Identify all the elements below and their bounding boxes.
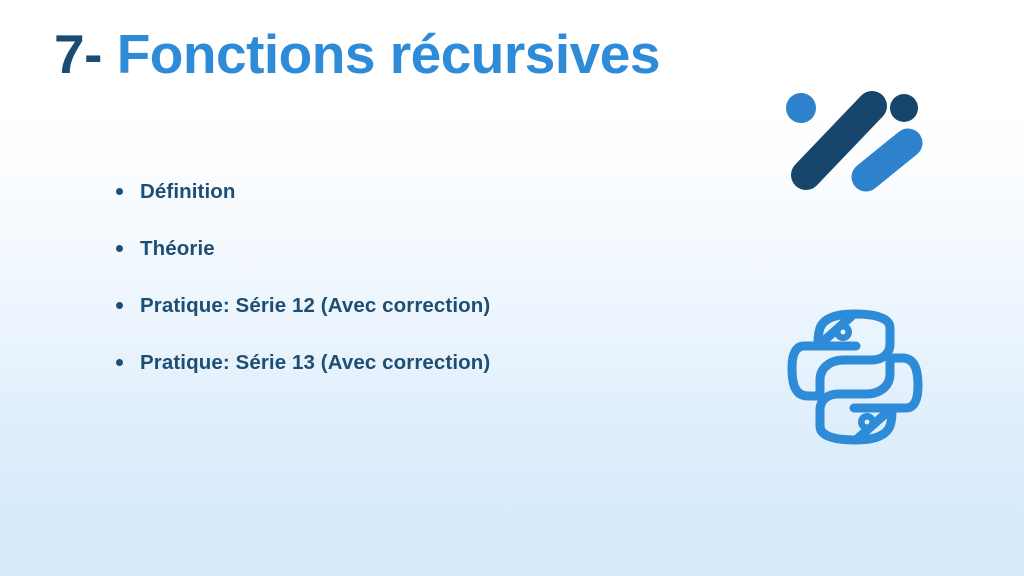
- list-item: Pratique: Série 13 (Avec correction): [116, 334, 736, 391]
- list-item-label: Pratique: Série 12 (Avec correction): [140, 294, 490, 318]
- page-title-text: Fonctions récursives: [117, 23, 660, 85]
- slide-canvas: 7- Fonctions récursives Définition Théor…: [0, 0, 1024, 576]
- bullet-dot-icon: [116, 245, 123, 252]
- page-title-number: 7-: [54, 23, 102, 85]
- page-title: 7- Fonctions récursives: [54, 19, 660, 89]
- bullet-dot-icon: [116, 302, 123, 309]
- list-item: Définition: [116, 163, 736, 220]
- logo-circle-light: [786, 93, 816, 123]
- list-item-label: Définition: [140, 180, 236, 204]
- list-item: Pratique: Série 12 (Avec correction): [116, 277, 736, 334]
- bullet-dot-icon: [116, 359, 123, 366]
- brand-percent-logo: [780, 86, 926, 196]
- bullet-dot-icon: [116, 188, 123, 195]
- agenda-list: Définition Théorie Pratique: Série 12 (A…: [116, 163, 736, 391]
- list-item: Théorie: [116, 220, 736, 277]
- logo-bar-light: [866, 143, 908, 177]
- list-item-label: Pratique: Série 13 (Avec correction): [140, 351, 490, 375]
- list-item-label: Théorie: [140, 237, 215, 261]
- python-logo: [786, 306, 924, 448]
- python-eye-upper-pupil: [841, 330, 846, 335]
- python-eye-lower-pupil: [865, 420, 870, 425]
- logo-circle-dark: [890, 94, 918, 122]
